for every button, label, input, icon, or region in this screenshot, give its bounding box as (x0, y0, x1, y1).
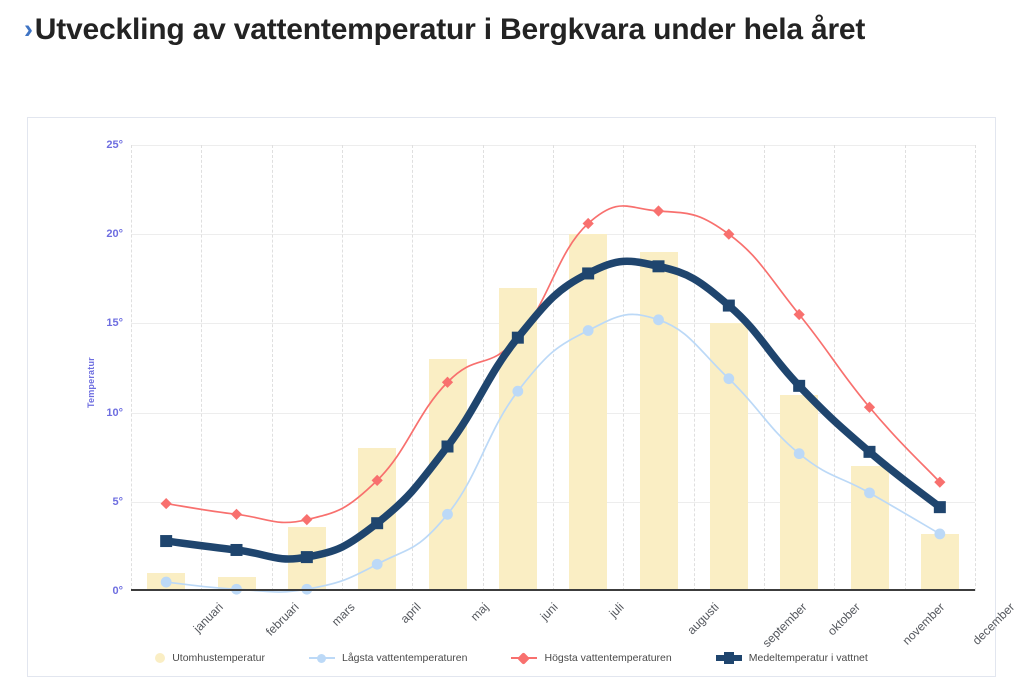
line-series: Medeltemperatur i vattnet — januari: 2.8… (160, 260, 946, 563)
data-point-marker[interactable]: Medeltemperatur i vattnet — december: 4.… (934, 501, 946, 513)
y-tick-label: 0° (112, 585, 123, 597)
data-point-marker[interactable]: Medeltemperatur i vattnet — januari: 2.8… (160, 535, 172, 547)
data-point-marker[interactable]: Lågsta vattentemperaturen — november: 5.… (864, 487, 875, 498)
plot-area: Lågsta vattentemperaturen — januari: 0.5… (131, 145, 975, 591)
series-path (166, 314, 940, 592)
x-tick-label: februari (262, 600, 301, 639)
gridline-vertical (975, 145, 976, 591)
data-point-marker[interactable]: Lågsta vattentemperaturen — april: 1.5° (372, 559, 383, 570)
x-tick-label: maj (467, 600, 491, 624)
series-path (166, 261, 940, 559)
legend-label: Medeltemperatur i vattnet (749, 652, 868, 664)
y-tick-label: 25° (106, 139, 123, 151)
y-tick-label: 5° (112, 496, 123, 508)
data-point-marker[interactable]: Lågsta vattentemperaturen — oktober: 7.7… (794, 448, 805, 459)
legend-label: Utomhustemperatur (172, 652, 265, 664)
x-tick-label: april (398, 600, 424, 626)
legend-label: Lågsta vattentemperaturen (342, 652, 468, 664)
x-axis-baseline (131, 589, 975, 591)
x-tick-label: juni (537, 600, 560, 623)
y-tick-label: 20° (106, 228, 123, 240)
legend-thick-line-icon (716, 652, 742, 664)
x-tick-label: oktober (825, 600, 863, 638)
data-point-marker[interactable]: Medeltemperatur i vattnet — september: 1… (723, 300, 735, 312)
data-point-marker[interactable]: Medeltemperatur i vattnet — april: 3.8° (371, 517, 383, 529)
legend-item[interactable]: Medeltemperatur i vattnet (716, 652, 868, 664)
data-point-marker[interactable]: Medeltemperatur i vattnet — augusti: 18.… (653, 260, 665, 272)
x-tick-label: juli (606, 600, 626, 620)
data-point-marker[interactable]: Högsta vattentemperaturen — februari: 4.… (231, 509, 242, 520)
data-point-marker[interactable]: Högsta vattentemperaturen — augusti: 21.… (653, 205, 664, 216)
page-title: ›Utveckling av vattentemperatur i Bergkv… (24, 12, 994, 47)
legend-item[interactable]: Lågsta vattentemperaturen (309, 652, 468, 664)
data-point-marker[interactable]: Lågsta vattentemperaturen — september: 1… (723, 373, 734, 384)
y-axis-title: Temperatur (86, 357, 96, 408)
title-label: Utveckling av vattentemperatur i Bergkva… (35, 13, 865, 46)
chevron-right-icon: › (24, 14, 33, 46)
line-series: Lågsta vattentemperaturen — januari: 0.5… (161, 314, 945, 594)
line-series-layer: Lågsta vattentemperaturen — januari: 0.5… (131, 145, 975, 591)
legend-label: Högsta vattentemperaturen (544, 652, 671, 664)
data-point-marker[interactable]: Medeltemperatur i vattnet — juni: 14.2° (512, 332, 524, 344)
x-tick-label: mars (329, 600, 358, 629)
chart-card: 0°5°10°15°20°25° Temperatur Lågsta vatte… (27, 117, 996, 677)
data-point-marker[interactable]: Högsta vattentemperaturen — januari: 4.9… (161, 498, 172, 509)
legend-item[interactable]: Utomhustemperatur (155, 652, 265, 664)
data-point-marker[interactable]: Medeltemperatur i vattnet — november: 7.… (864, 446, 876, 458)
chart-legend: UtomhustemperaturLågsta vattentemperatur… (28, 652, 995, 664)
legend-item[interactable]: Högsta vattentemperaturen (511, 652, 671, 664)
x-tick-label: augusti (684, 600, 721, 637)
y-tick-label: 10° (106, 407, 123, 419)
data-point-marker[interactable]: Medeltemperatur i vattnet — mars: 1.9° (301, 551, 313, 563)
data-point-marker[interactable]: Lågsta vattentemperaturen — december: 3.… (934, 529, 945, 540)
data-point-marker[interactable]: Lågsta vattentemperaturen — maj: 4.3° (442, 509, 453, 520)
data-point-marker[interactable]: Medeltemperatur i vattnet — juli: 17.8° (582, 267, 594, 279)
x-tick-label: januari (191, 600, 226, 635)
legend-circle-icon (309, 653, 335, 663)
series-path (166, 206, 940, 523)
data-point-marker[interactable]: Lågsta vattentemperaturen — juli: 14.6° (583, 325, 594, 336)
data-point-marker[interactable]: Högsta vattentemperaturen — mars: 4° (301, 514, 312, 525)
data-point-marker[interactable]: Lågsta vattentemperaturen — augusti: 15.… (653, 314, 664, 325)
title-heading: ›Utveckling av vattentemperatur i Bergkv… (24, 12, 994, 47)
data-point-marker[interactable]: Lågsta vattentemperaturen — januari: 0.5… (161, 577, 172, 588)
data-point-marker[interactable]: Medeltemperatur i vattnet — maj: 8.1° (442, 440, 454, 452)
y-tick-label: 15° (106, 317, 123, 329)
page-root: ›Utveckling av vattentemperatur i Bergkv… (0, 0, 1023, 690)
x-tick-label: november (899, 600, 947, 648)
x-tick-label: september (759, 600, 809, 650)
legend-dot-icon (155, 653, 165, 663)
legend-diamond-icon (511, 653, 537, 663)
x-tick-label: december (969, 600, 1017, 648)
data-point-marker[interactable]: Medeltemperatur i vattnet — februari: 2.… (231, 544, 243, 556)
data-point-marker[interactable]: Medeltemperatur i vattnet — oktober: 11.… (793, 380, 805, 392)
line-series: Högsta vattentemperaturen — januari: 4.9… (161, 205, 946, 525)
data-point-marker[interactable]: Lågsta vattentemperaturen — juni: 11.2° (512, 386, 523, 397)
